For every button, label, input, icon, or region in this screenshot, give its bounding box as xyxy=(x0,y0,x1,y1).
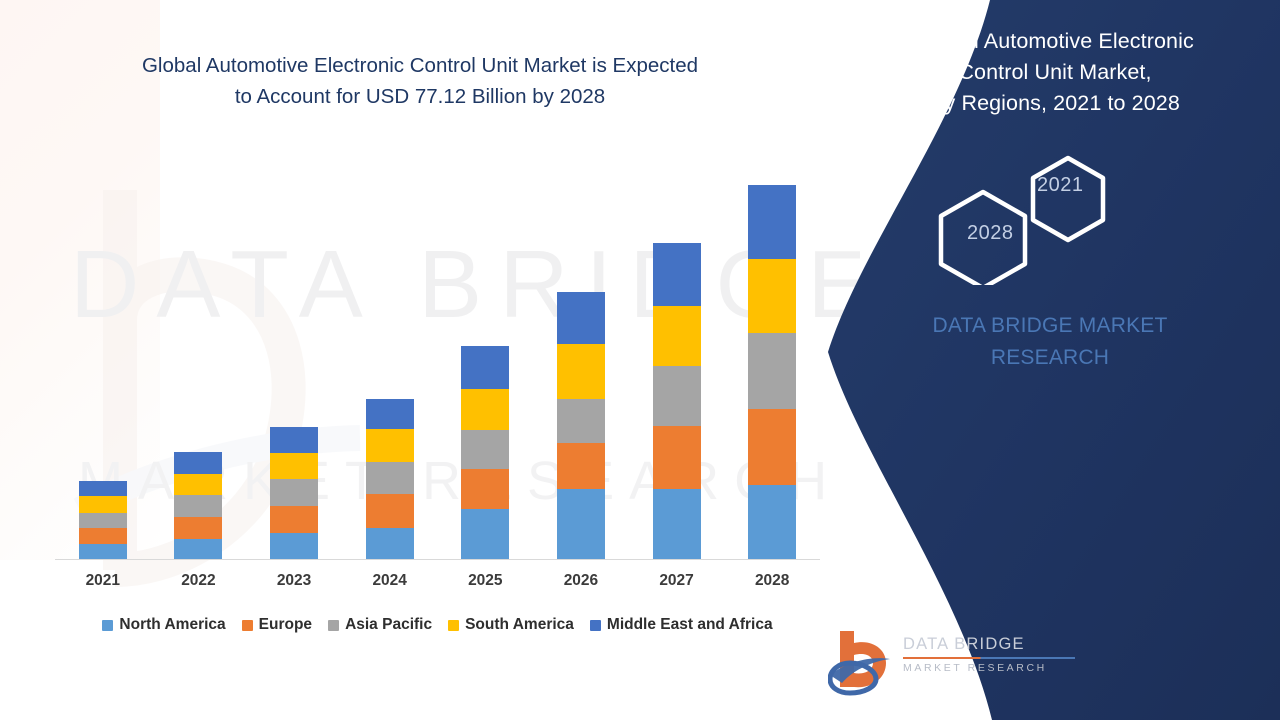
hexagon-2021-shape xyxy=(1033,158,1103,240)
bar-segment-asia-pacific[interactable] xyxy=(79,513,127,528)
legend-swatch-icon xyxy=(242,620,253,631)
bar-segment-south-america[interactable] xyxy=(366,429,414,462)
legend-label: Europe xyxy=(259,616,312,634)
bar-segment-south-america[interactable] xyxy=(79,496,127,513)
logo-divider xyxy=(903,657,1075,659)
hexagon-group: 2021 2028 xyxy=(925,150,1125,285)
company-logo: DATA BRIDGE MARKET RESEARCH xyxy=(828,625,1078,705)
page-title-line-1: Global Automotive Electronic Control Uni… xyxy=(142,54,698,77)
bar-segment-middle-east-and-africa[interactable] xyxy=(270,427,318,453)
panel-title-line-2: Control Unit Market, xyxy=(850,57,1260,88)
bar-segment-middle-east-and-africa[interactable] xyxy=(366,399,414,429)
x-tick-label-2028: 2028 xyxy=(724,572,820,590)
stacked-bar[interactable] xyxy=(557,292,605,559)
legend-item-asia-pacific[interactable]: Asia Pacific xyxy=(328,616,432,634)
bar-segment-north-america[interactable] xyxy=(557,489,605,559)
bar-segment-south-america[interactable] xyxy=(748,259,796,333)
bar-segment-north-america[interactable] xyxy=(653,489,701,559)
bar-segment-north-america[interactable] xyxy=(79,544,127,559)
bar-segment-south-america[interactable] xyxy=(557,344,605,399)
bar-segment-north-america[interactable] xyxy=(366,528,414,559)
bar-segment-asia-pacific[interactable] xyxy=(748,333,796,409)
panel-brand-line-1: DATA BRIDGE MARKET xyxy=(840,310,1260,342)
infographic-page: DATA BRIDGE MARKET RESEARCH Global Autom… xyxy=(0,0,1280,720)
x-tick-label-2021: 2021 xyxy=(55,572,151,590)
bar-segment-asia-pacific[interactable] xyxy=(366,462,414,494)
panel-title-line-3: By Regions, 2021 to 2028 xyxy=(850,88,1260,119)
stacked-bar[interactable] xyxy=(270,427,318,559)
legend-label: North America xyxy=(119,616,225,634)
bar-segment-europe[interactable] xyxy=(366,494,414,528)
legend-swatch-icon xyxy=(328,620,339,631)
page-title: Global Automotive Electronic Control Uni… xyxy=(40,50,800,112)
legend-item-south-america[interactable]: South America xyxy=(448,616,574,634)
legend-label: Middle East and Africa xyxy=(607,616,773,634)
legend-swatch-icon xyxy=(590,620,601,631)
logo-name: DATA BRIDGE xyxy=(903,635,1078,654)
bar-segment-south-america[interactable] xyxy=(653,306,701,366)
x-tick-label-2027: 2027 xyxy=(629,572,725,590)
bar-segment-asia-pacific[interactable] xyxy=(653,366,701,426)
bar-segment-middle-east-and-africa[interactable] xyxy=(174,452,222,474)
x-tick-label-2024: 2024 xyxy=(342,572,438,590)
chart-legend: North AmericaEuropeAsia PacificSouth Ame… xyxy=(55,616,820,634)
bar-segment-europe[interactable] xyxy=(270,506,318,533)
legend-swatch-icon xyxy=(448,620,459,631)
stacked-bar[interactable] xyxy=(174,452,222,559)
x-tick-label-2023: 2023 xyxy=(246,572,342,590)
bar-segment-south-america[interactable] xyxy=(174,474,222,495)
legend-label: South America xyxy=(465,616,574,634)
bar-segment-asia-pacific[interactable] xyxy=(461,430,509,469)
bar-segment-europe[interactable] xyxy=(557,443,605,489)
bar-segment-europe[interactable] xyxy=(653,426,701,489)
stacked-bar[interactable] xyxy=(653,243,701,559)
bar-group xyxy=(55,150,820,559)
bar-segment-asia-pacific[interactable] xyxy=(174,495,222,517)
logo-tagline: MARKET RESEARCH xyxy=(903,662,1078,674)
stacked-bar[interactable] xyxy=(461,346,509,559)
panel-title-line-1: Global Automotive Electronic xyxy=(916,29,1194,53)
x-axis-line xyxy=(55,559,820,560)
bar-segment-middle-east-and-africa[interactable] xyxy=(748,185,796,259)
data-bridge-b-mark-icon xyxy=(828,625,898,697)
legend-item-europe[interactable]: Europe xyxy=(242,616,312,634)
bar-segment-europe[interactable] xyxy=(748,409,796,485)
bar-segment-europe[interactable] xyxy=(79,528,127,544)
legend-label: Asia Pacific xyxy=(345,616,432,634)
stacked-bar[interactable] xyxy=(366,399,414,559)
legend-item-middle-east-and-africa[interactable]: Middle East and Africa xyxy=(590,616,773,634)
logo-text-block: DATA BRIDGE MARKET RESEARCH xyxy=(903,635,1078,674)
bar-column-2028[interactable] xyxy=(724,150,820,559)
legend-item-north-america[interactable]: North America xyxy=(102,616,225,634)
bar-column-2026[interactable] xyxy=(533,150,629,559)
x-axis-tick-labels: 20212022202320242025202620272028 xyxy=(55,572,820,590)
panel-title: Global Automotive Electronic Control Uni… xyxy=(850,26,1260,119)
bar-segment-middle-east-and-africa[interactable] xyxy=(653,243,701,306)
bar-segment-south-america[interactable] xyxy=(270,453,318,479)
bar-segment-north-america[interactable] xyxy=(461,509,509,559)
bar-column-2024[interactable] xyxy=(342,150,438,559)
right-panel: Global Automotive Electronic Control Uni… xyxy=(820,0,1280,720)
bar-column-2022[interactable] xyxy=(151,150,247,559)
bar-column-2021[interactable] xyxy=(55,150,151,559)
x-tick-label-2025: 2025 xyxy=(438,572,534,590)
legend-swatch-icon xyxy=(102,620,113,631)
hexagon-outlines-icon xyxy=(925,150,1125,285)
bar-column-2027[interactable] xyxy=(629,150,725,559)
bar-segment-middle-east-and-africa[interactable] xyxy=(557,292,605,344)
bar-segment-asia-pacific[interactable] xyxy=(270,479,318,506)
hexagon-label-2028: 2028 xyxy=(967,222,1014,245)
chart-plot-area xyxy=(55,150,820,560)
panel-brand-text: DATA BRIDGE MARKET RESEARCH xyxy=(840,310,1260,374)
bar-column-2025[interactable] xyxy=(438,150,534,559)
stacked-bar[interactable] xyxy=(79,481,127,559)
panel-brand-line-2: RESEARCH xyxy=(840,342,1260,374)
page-title-line-2: to Account for USD 77.12 Billion by 2028 xyxy=(40,81,800,112)
bar-segment-europe[interactable] xyxy=(461,469,509,509)
bar-segment-north-america[interactable] xyxy=(174,539,222,559)
bar-segment-middle-east-and-africa[interactable] xyxy=(461,346,509,389)
bar-column-2023[interactable] xyxy=(246,150,342,559)
bar-segment-south-america[interactable] xyxy=(461,389,509,430)
bar-segment-europe[interactable] xyxy=(174,517,222,539)
bar-segment-middle-east-and-africa[interactable] xyxy=(79,481,127,496)
bar-segment-north-america[interactable] xyxy=(270,533,318,559)
bar-segment-asia-pacific[interactable] xyxy=(557,399,605,443)
stacked-bar[interactable] xyxy=(748,185,796,559)
x-tick-label-2022: 2022 xyxy=(151,572,247,590)
x-tick-label-2026: 2026 xyxy=(533,572,629,590)
bar-segment-north-america[interactable] xyxy=(748,485,796,559)
hexagon-label-2021: 2021 xyxy=(1037,174,1084,197)
